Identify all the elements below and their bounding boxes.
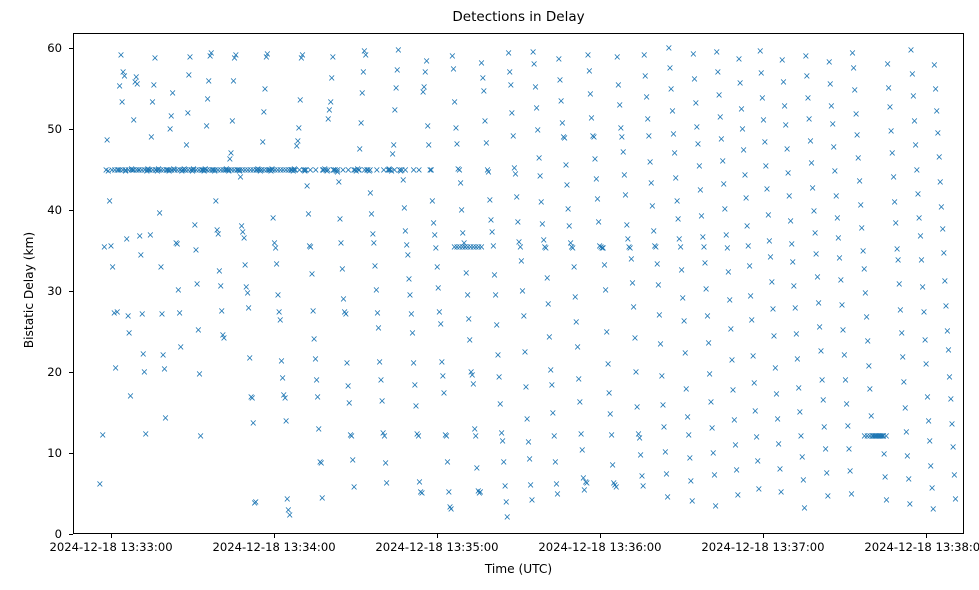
- data-point-marker: ×: [880, 450, 889, 459]
- data-point-marker: ×: [823, 492, 832, 501]
- data-point-marker: ×: [580, 486, 589, 495]
- data-point-marker: ×: [191, 246, 200, 255]
- data-point-marker: ×: [693, 140, 702, 149]
- data-point-marker: ×: [472, 464, 481, 473]
- data-point-marker: ×: [789, 282, 798, 291]
- data-point-marker: ×: [352, 167, 361, 176]
- data-point-marker: ×: [238, 166, 247, 175]
- data-point-marker: ×: [450, 98, 459, 107]
- data-point-marker: ×: [202, 122, 211, 131]
- data-point-marker: ×: [524, 438, 533, 447]
- data-point-marker: ×: [599, 244, 608, 253]
- data-point-marker: ×: [664, 44, 673, 53]
- data-point-marker: ×: [286, 166, 295, 175]
- data-point-marker: ×: [200, 166, 209, 175]
- data-point-marker: ×: [528, 496, 537, 505]
- data-point-marker: ×: [353, 165, 362, 174]
- data-point-marker: ×: [276, 316, 285, 325]
- data-point-marker: ×: [163, 166, 172, 175]
- data-point-marker: ×: [257, 166, 266, 175]
- data-point-marker: ×: [193, 280, 202, 289]
- data-point-marker: ×: [495, 373, 504, 382]
- data-point-marker: ×: [715, 91, 724, 100]
- data-point-marker: ×: [181, 166, 190, 175]
- data-point-marker: ×: [447, 505, 456, 514]
- data-point-marker: ×: [197, 166, 206, 175]
- data-point-marker: ×: [464, 315, 473, 324]
- data-point-marker: ×: [674, 215, 683, 224]
- data-point-marker: ×: [438, 372, 447, 381]
- data-point-marker: ×: [369, 239, 378, 248]
- data-point-marker: ×: [545, 333, 554, 342]
- data-point-marker: ×: [829, 143, 838, 152]
- data-point-marker: ×: [409, 166, 418, 175]
- data-point-marker: ×: [765, 237, 774, 246]
- data-point-marker: ×: [936, 178, 945, 187]
- data-point-marker: ×: [329, 166, 338, 175]
- data-point-marker: ×: [257, 166, 266, 175]
- data-point-marker: ×: [586, 90, 595, 99]
- data-point-marker: ×: [403, 251, 412, 260]
- data-point-marker: ×: [119, 68, 128, 77]
- data-point-marker: ×: [111, 364, 120, 373]
- data-point-marker: ×: [518, 287, 527, 296]
- data-point-marker: ×: [266, 167, 275, 176]
- data-point-marker: ×: [394, 46, 403, 55]
- data-point-marker: ×: [795, 408, 804, 417]
- data-point-marker: ×: [95, 480, 104, 489]
- data-point-marker: ×: [450, 243, 459, 252]
- data-point-marker: ×: [704, 339, 713, 348]
- data-point-marker: ×: [491, 291, 500, 300]
- data-point-marker: ×: [327, 74, 336, 83]
- data-point-marker: ×: [893, 245, 902, 254]
- data-point-marker: ×: [179, 166, 188, 175]
- data-point-marker: ×: [692, 123, 701, 132]
- data-point-marker: ×: [552, 480, 561, 489]
- data-point-marker: ×: [355, 145, 364, 154]
- data-point-marker: ×: [799, 476, 808, 485]
- data-point-marker: ×: [299, 166, 308, 175]
- data-point-marker: ×: [563, 181, 572, 190]
- data-point-marker: ×: [113, 308, 122, 317]
- data-point-marker: ×: [189, 165, 198, 174]
- data-point-marker: ×: [807, 159, 816, 168]
- data-point-marker: ×: [622, 221, 631, 230]
- data-point-marker: ×: [730, 416, 739, 425]
- data-point-marker: ×: [165, 167, 174, 176]
- data-point-marker: ×: [393, 66, 402, 75]
- data-point-marker: ×: [387, 167, 396, 176]
- data-point-marker: ×: [647, 179, 656, 188]
- data-point-marker: ×: [162, 166, 171, 175]
- data-point-marker: ×: [141, 430, 150, 439]
- data-point-marker: ×: [449, 65, 458, 74]
- data-point-marker: ×: [311, 355, 320, 364]
- data-point-marker: ×: [376, 376, 385, 385]
- data-point-marker: ×: [921, 336, 930, 345]
- data-point-marker: ×: [796, 432, 805, 441]
- data-point-marker: ×: [283, 495, 292, 504]
- data-point-marker: ×: [757, 69, 766, 78]
- data-point-marker: ×: [705, 370, 714, 379]
- data-point-marker: ×: [509, 132, 518, 141]
- data-point-marker: ×: [276, 166, 285, 175]
- data-point-marker: ×: [231, 51, 240, 60]
- data-point-marker: ×: [379, 429, 388, 438]
- data-point-marker: ×: [592, 175, 601, 184]
- data-point-marker: ×: [747, 316, 756, 325]
- data-point-marker: ×: [334, 178, 343, 187]
- data-point-marker: ×: [216, 282, 225, 291]
- plot-axes: ××××××××××××××××××××××××××××××××××××××××…: [73, 33, 964, 534]
- data-point-marker: ×: [246, 166, 255, 175]
- data-point-marker: ×: [668, 107, 677, 116]
- data-point-marker: ×: [197, 166, 206, 175]
- y-axis-tick: [69, 534, 73, 535]
- data-point-marker: ×: [660, 423, 669, 432]
- data-point-marker: ×: [121, 167, 130, 176]
- data-point-marker: ×: [385, 166, 394, 175]
- data-point-marker: ×: [771, 364, 780, 373]
- data-point-marker: ×: [201, 165, 210, 174]
- data-point-marker: ×: [294, 124, 303, 133]
- data-point-marker: ×: [511, 170, 520, 179]
- data-point-marker: ×: [887, 127, 896, 136]
- data-point-marker: ×: [147, 133, 156, 142]
- data-point-marker: ×: [282, 417, 291, 426]
- data-point-marker: ×: [736, 79, 745, 88]
- data-point-marker: ×: [421, 68, 430, 77]
- data-point-marker: ×: [190, 221, 199, 230]
- data-point-marker: ×: [471, 432, 480, 441]
- data-point-marker: ×: [475, 489, 484, 498]
- data-point-marker: ×: [671, 174, 680, 183]
- data-point-marker: ×: [346, 431, 355, 440]
- data-point-marker: ×: [558, 119, 567, 128]
- data-point-marker: ×: [430, 231, 439, 240]
- data-point-marker: ×: [433, 263, 442, 272]
- data-point-marker: ×: [174, 286, 183, 295]
- data-point-marker: ×: [154, 165, 163, 174]
- data-point-marker: ×: [503, 513, 512, 522]
- data-point-marker: ×: [661, 448, 670, 457]
- data-point-marker: ×: [395, 166, 404, 175]
- data-point-marker: ×: [514, 238, 523, 247]
- y-axis-tick: [69, 48, 73, 49]
- data-point-marker: ×: [839, 326, 848, 335]
- data-point-marker: ×: [827, 102, 836, 111]
- data-point-marker: ×: [133, 80, 142, 89]
- data-point-marker: ×: [417, 489, 426, 498]
- y-axis-tick-label: 0: [0, 527, 62, 541]
- data-point-marker: ×: [235, 167, 244, 176]
- data-point-marker: ×: [253, 165, 262, 174]
- data-point-marker: ×: [684, 431, 693, 440]
- data-point-marker: ×: [232, 166, 241, 175]
- data-point-marker: ×: [314, 425, 323, 434]
- data-point-marker: ×: [177, 167, 186, 176]
- data-point-marker: ×: [116, 51, 125, 60]
- data-point-marker: ×: [320, 165, 329, 174]
- data-point-marker: ×: [683, 413, 692, 422]
- data-point-marker: ×: [676, 243, 685, 252]
- data-point-marker: ×: [901, 404, 910, 413]
- data-point-marker: ×: [814, 299, 823, 308]
- data-point-marker: ×: [612, 483, 621, 492]
- data-point-marker: ×: [738, 125, 747, 134]
- data-point-marker: ×: [938, 225, 947, 234]
- data-point-marker: ×: [113, 166, 122, 175]
- data-point-marker: ×: [662, 470, 671, 479]
- data-point-marker: ×: [675, 235, 684, 244]
- data-point-marker: ×: [140, 166, 149, 175]
- data-point-marker: ×: [207, 49, 216, 58]
- data-point-marker: ×: [764, 211, 773, 220]
- data-point-marker: ×: [498, 437, 507, 446]
- data-point-marker: ×: [490, 271, 499, 280]
- y-axis-label: Bistatic Delay (km): [22, 175, 36, 405]
- data-point-marker: ×: [759, 116, 768, 125]
- data-point-marker: ×: [420, 83, 429, 92]
- data-point-marker: ×: [779, 78, 788, 87]
- data-point-marker: ×: [651, 243, 660, 252]
- data-point-marker: ×: [455, 166, 464, 175]
- data-point-marker: ×: [103, 136, 112, 145]
- data-point-marker: ×: [408, 329, 417, 338]
- data-point-marker: ×: [935, 153, 944, 162]
- data-point-marker: ×: [640, 51, 649, 60]
- data-point-marker: ×: [551, 458, 560, 467]
- data-point-marker: ×: [657, 372, 666, 381]
- data-point-marker: ×: [669, 130, 678, 139]
- data-point-marker: ×: [402, 241, 411, 250]
- y-axis-tick: [69, 453, 73, 454]
- data-point-marker: ×: [654, 281, 663, 290]
- data-point-marker: ×: [483, 166, 492, 175]
- data-point-marker: ×: [178, 166, 187, 175]
- data-point-marker: ×: [248, 394, 257, 403]
- data-point-marker: ×: [805, 115, 814, 124]
- data-point-marker: ×: [108, 166, 117, 175]
- data-point-marker: ×: [608, 461, 617, 470]
- data-point-marker: ×: [458, 229, 467, 238]
- data-point-marker: ×: [678, 294, 687, 303]
- data-point-marker: ×: [781, 121, 790, 130]
- data-point-marker: ×: [689, 50, 698, 59]
- data-point-marker: ×: [399, 176, 408, 185]
- x-axis-tick-label: 2024-12-18 13:37:00: [701, 540, 824, 554]
- data-point-marker: ×: [504, 49, 513, 58]
- data-point-marker: ×: [453, 140, 462, 149]
- data-point-marker: ×: [151, 166, 160, 175]
- y-axis-tick: [69, 372, 73, 373]
- data-point-marker: ×: [228, 117, 237, 126]
- data-point-marker: ×: [127, 166, 136, 175]
- data-point-marker: ×: [184, 71, 193, 80]
- data-point-marker: ×: [436, 320, 445, 329]
- data-point-marker: ×: [131, 78, 140, 87]
- data-point-marker: ×: [419, 88, 428, 97]
- data-point-marker: ×: [189, 166, 198, 175]
- data-point-marker: ×: [760, 138, 769, 147]
- data-point-marker: ×: [530, 60, 539, 69]
- data-point-marker: ×: [277, 357, 286, 366]
- x-axis-tick-label: 2024-12-18 13:35:00: [375, 540, 498, 554]
- data-point-marker: ×: [914, 190, 923, 199]
- data-point-marker: ×: [476, 488, 485, 497]
- data-point-marker: ×: [758, 94, 767, 103]
- data-point-marker: ×: [363, 166, 372, 175]
- data-point-marker: ×: [667, 85, 676, 94]
- data-point-marker: ×: [864, 362, 873, 371]
- data-point-marker: ×: [155, 209, 164, 218]
- data-point-marker: ×: [390, 166, 399, 175]
- data-point-marker: ×: [718, 157, 727, 166]
- data-point-marker: ×: [262, 53, 271, 62]
- data-point-marker: ×: [372, 166, 381, 175]
- data-point-marker: ×: [132, 166, 141, 175]
- data-point-marker: ×: [617, 133, 626, 142]
- data-point-marker: ×: [828, 120, 837, 129]
- matplotlib-figure: Detections in Delay ××××××××××××××××××××…: [0, 0, 979, 590]
- data-point-marker: ×: [538, 220, 547, 229]
- data-point-marker: ×: [249, 419, 258, 428]
- data-point-marker: ×: [424, 141, 433, 150]
- data-point-marker: ×: [840, 351, 849, 360]
- data-point-marker: ×: [350, 483, 359, 492]
- data-point-marker: ×: [526, 481, 535, 490]
- data-point-marker: ×: [690, 75, 699, 84]
- data-point-marker: ×: [801, 52, 810, 61]
- data-point-marker: ×: [349, 166, 358, 175]
- data-point-marker: ×: [382, 479, 391, 488]
- data-point-marker: ×: [571, 293, 580, 302]
- data-point-marker: ×: [888, 149, 897, 158]
- data-point-marker: ×: [426, 166, 435, 175]
- data-point-marker: ×: [258, 138, 267, 147]
- data-point-marker: ×: [306, 166, 315, 175]
- data-point-marker: ×: [869, 432, 878, 441]
- data-point-marker: ×: [550, 432, 559, 441]
- data-point-marker: ×: [761, 162, 770, 171]
- data-point-marker: ×: [891, 219, 900, 228]
- data-point-marker: ×: [281, 166, 290, 175]
- data-point-marker: ×: [114, 166, 123, 175]
- data-point-marker: ×: [609, 479, 618, 488]
- data-point-marker: ×: [422, 57, 431, 66]
- data-point-marker: ×: [788, 258, 797, 267]
- data-point-marker: ×: [409, 359, 418, 368]
- data-point-marker: ×: [192, 166, 201, 175]
- data-point-marker: ×: [243, 166, 252, 175]
- data-point-marker: ×: [744, 242, 753, 251]
- data-point-marker: ×: [335, 215, 344, 224]
- data-point-marker: ×: [898, 353, 907, 362]
- data-point-marker: ×: [512, 193, 521, 202]
- data-point-marker: ×: [565, 222, 574, 231]
- data-point-marker: ×: [362, 166, 371, 175]
- data-point-marker: ×: [722, 231, 731, 240]
- data-point-marker: ×: [278, 374, 287, 383]
- data-point-marker: ×: [794, 384, 803, 393]
- data-point-marker: ×: [949, 443, 958, 452]
- data-point-marker: ×: [481, 117, 490, 126]
- data-point-marker: ×: [677, 266, 686, 275]
- data-point-marker: ×: [224, 167, 233, 176]
- data-point-marker: ×: [773, 415, 782, 424]
- data-point-marker: ×: [298, 51, 307, 60]
- data-point-marker: ×: [361, 51, 370, 60]
- data-point-marker: ×: [837, 301, 846, 310]
- data-point-marker: ×: [727, 356, 736, 365]
- data-point-marker: ×: [573, 343, 582, 352]
- x-axis-tick: [274, 534, 275, 538]
- data-point-marker: ×: [853, 131, 862, 140]
- x-axis-tick: [926, 534, 927, 538]
- data-point-marker: ×: [919, 308, 928, 317]
- data-point-marker: ×: [650, 242, 659, 251]
- data-point-marker: ×: [128, 166, 137, 175]
- data-point-marker: ×: [665, 64, 674, 73]
- data-point-marker: ×: [333, 168, 342, 177]
- data-point-marker: ×: [808, 184, 817, 193]
- data-point-marker: ×: [214, 230, 223, 239]
- data-point-marker: ×: [328, 53, 337, 62]
- data-point-marker: ×: [366, 166, 375, 175]
- data-point-marker: ×: [472, 243, 481, 252]
- data-point-marker: ×: [360, 166, 369, 175]
- data-point-marker: ×: [194, 326, 203, 335]
- data-point-marker: ×: [616, 124, 625, 133]
- data-point-marker: ×: [928, 484, 937, 493]
- data-point-marker: ×: [297, 54, 306, 63]
- data-point-marker: ×: [412, 402, 421, 411]
- data-point-marker: ×: [451, 124, 460, 133]
- data-point-marker: ×: [505, 68, 514, 77]
- data-point-marker: ×: [365, 167, 374, 176]
- data-point-marker: ×: [918, 283, 927, 292]
- data-point-marker: ×: [930, 61, 939, 70]
- data-point-marker: ×: [596, 243, 605, 252]
- data-point-marker: ×: [221, 166, 230, 175]
- data-point-marker: ×: [175, 166, 184, 175]
- data-point-marker: ×: [215, 267, 224, 276]
- data-point-marker: ×: [389, 141, 398, 150]
- data-point-marker: ×: [468, 371, 477, 380]
- data-point-marker: ×: [510, 164, 519, 173]
- data-point-marker: ×: [589, 133, 598, 142]
- data-point-marker: ×: [560, 134, 569, 143]
- data-point-marker: ×: [311, 166, 320, 175]
- data-point-marker: ×: [911, 141, 920, 150]
- data-point-marker: ×: [883, 60, 892, 69]
- data-point-marker: ×: [712, 48, 721, 57]
- data-point-marker: ×: [630, 334, 639, 343]
- data-point-marker: ×: [180, 165, 189, 174]
- data-point-marker: ×: [863, 432, 872, 441]
- data-point-marker: ×: [557, 97, 566, 106]
- data-point-marker: ×: [876, 432, 885, 441]
- data-point-marker: ×: [290, 165, 299, 174]
- data-point-marker: ×: [865, 385, 874, 394]
- data-point-marker: ×: [713, 68, 722, 77]
- data-point-marker: ×: [884, 84, 893, 93]
- data-point-marker: ×: [780, 102, 789, 111]
- data-point-marker: ×: [865, 432, 874, 441]
- data-point-marker: ×: [574, 375, 583, 384]
- data-point-marker: ×: [802, 72, 811, 81]
